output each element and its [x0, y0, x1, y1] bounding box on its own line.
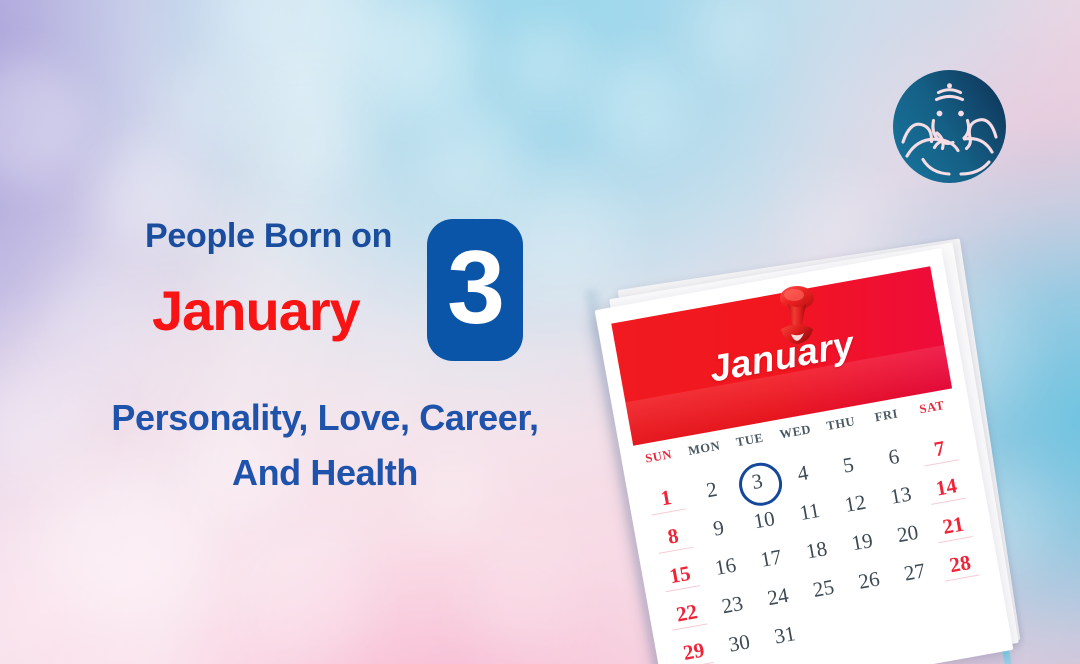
calendar-row-divider: [931, 498, 966, 505]
bokeh-circle: [466, 546, 574, 654]
calendar-day-empty: [941, 582, 992, 622]
calendar-day-cell[interactable]: 5: [823, 445, 874, 485]
calendar-day-cell[interactable]: 15: [654, 555, 705, 595]
calendar-weekday-header: WED: [771, 421, 821, 455]
bokeh-circle: [504, 18, 592, 106]
bokeh-circle: [168, 58, 260, 150]
calendar-row-divider: [672, 624, 707, 631]
bokeh-circle: [242, 536, 370, 664]
calendar-day-cell[interactable]: 26: [843, 560, 894, 600]
calendar-row-divider: [925, 459, 960, 466]
calendar-day-cell[interactable]: 28: [935, 544, 986, 584]
calendar-day-cell[interactable]: 23: [707, 585, 758, 625]
calendar-day-cell[interactable]: 9: [693, 508, 744, 548]
calendar-row-divider: [651, 508, 686, 515]
calendar-day-cell[interactable]: 4: [777, 453, 828, 493]
calendar-day-cell[interactable]: 21: [928, 505, 979, 545]
calendar-day-cell[interactable]: 14: [921, 467, 972, 507]
calendar-row-divider: [945, 574, 980, 581]
calendar-day-cell[interactable]: 25: [798, 568, 849, 608]
calendar-day-cell[interactable]: 13: [875, 475, 926, 515]
calendar-day-cell[interactable]: 6: [868, 437, 919, 477]
bokeh-circle: [418, 104, 522, 208]
calendar-day-cell[interactable]: 31: [759, 615, 810, 655]
headline-month: January: [152, 283, 360, 339]
calendar-row-divider: [658, 547, 693, 554]
bokeh-circle: [590, 54, 690, 154]
calendar-day-cell[interactable]: 29: [668, 631, 719, 664]
calendar-weekday-header: SAT: [908, 396, 958, 430]
calendar-weekday-header: THU: [817, 413, 867, 447]
calendar-day-cell[interactable]: 11: [784, 492, 835, 532]
calendar-weekday-header: SUN: [635, 445, 685, 479]
calendar-row-divider: [665, 585, 700, 592]
bokeh-circle: [0, 60, 84, 184]
calendar-day-cell[interactable]: 22: [661, 593, 712, 633]
birthday-banner: People Born on January 3 Personality, Lo…: [0, 0, 1080, 664]
calendar-day-cell[interactable]: 30: [714, 623, 765, 663]
calendar-day-cell[interactable]: 12: [830, 483, 881, 523]
calendar-day-empty: [805, 607, 856, 647]
calendar-weekday-header: MON: [680, 437, 730, 471]
calendar-day-cell[interactable]: 24: [752, 577, 803, 617]
bokeh-circle: [214, 0, 370, 96]
calendar-day-cell[interactable]: 18: [791, 530, 842, 570]
calendar-day-empty: [896, 590, 947, 630]
calendar-day-empty: [850, 599, 901, 639]
calendar-day-cell[interactable]: 7: [914, 429, 965, 469]
ganesha-logo-icon: [893, 70, 1006, 183]
calendar-row-divider: [938, 536, 973, 543]
headline-subtitle-line-1: Personality, Love, Career,: [60, 391, 590, 446]
day-number-badge-value: 3: [447, 236, 503, 340]
bokeh-circle: [358, 0, 478, 118]
calendar-day-cell[interactable]: 27: [889, 552, 940, 592]
calendar-day-cell[interactable]: 2: [686, 470, 737, 510]
bokeh-circle: [252, 70, 364, 182]
calendar-day-cell[interactable]: 17: [745, 538, 796, 578]
calendar-day-cell[interactable]: 1: [640, 478, 691, 518]
calendar-day-cell[interactable]: 3: [732, 461, 783, 501]
calendar-day-cell[interactable]: 10: [738, 500, 789, 540]
headline-subtitle: Personality, Love, Career, And Health: [60, 391, 590, 500]
calendar-day-cell[interactable]: 20: [882, 514, 933, 554]
headline-subtitle-line-2: And Health: [60, 446, 590, 501]
day-number-badge: 3: [427, 219, 523, 361]
push-pin-icon: [766, 283, 828, 369]
calendar-weekday-header: FRI: [862, 404, 912, 438]
calendar-weekday-header: TUE: [726, 429, 776, 463]
calendar-day-cell[interactable]: 8: [647, 516, 698, 556]
headline-kicker: People Born on: [145, 219, 392, 253]
bokeh-circle: [686, 0, 770, 76]
calendar-day-cell[interactable]: 19: [837, 522, 888, 562]
calendar-day-cell[interactable]: 16: [700, 546, 751, 586]
calendar-date-grid: SUNMONTUEWEDTHUFRISAT1234567891011121314…: [635, 396, 993, 664]
